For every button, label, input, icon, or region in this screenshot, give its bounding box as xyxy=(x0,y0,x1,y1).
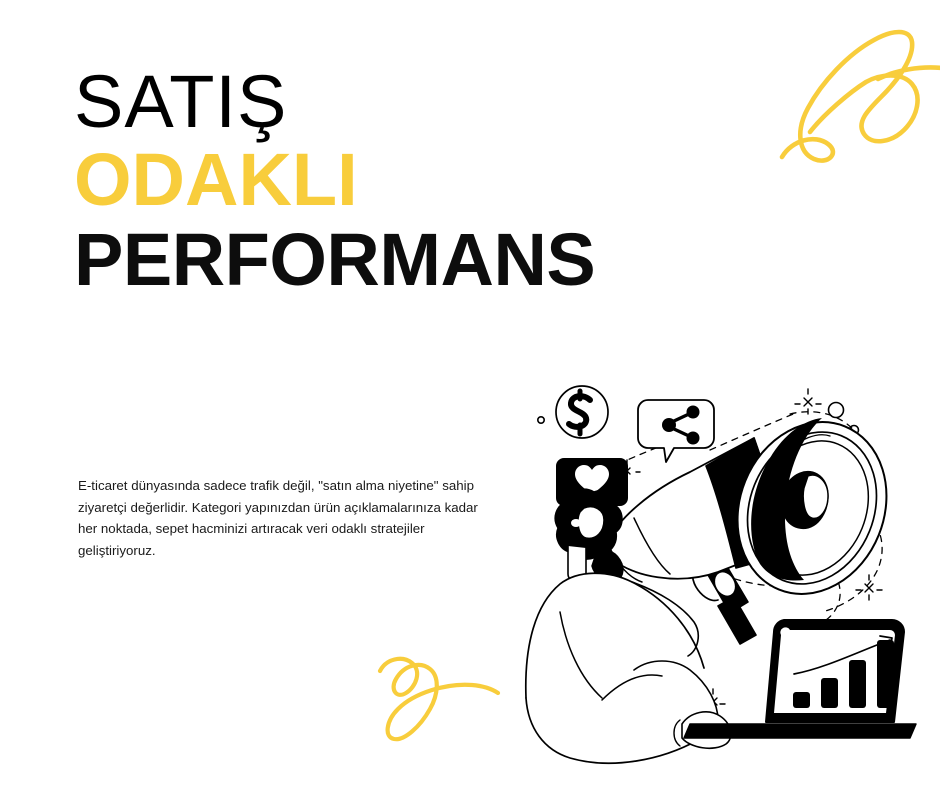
yellow-squiggle-top-right-icon xyxy=(770,22,940,187)
hero-illustration xyxy=(522,368,940,768)
yellow-squiggle-bottom-left-icon xyxy=(372,643,502,763)
circle-decor-tiny xyxy=(538,417,544,423)
heading-line-3: PERFORMANS xyxy=(74,224,774,296)
dashed-motion-arcs xyxy=(618,412,882,630)
slide-canvas: SATIŞ ODAKLI PERFORMANS E-ticaret dünyas… xyxy=(0,0,940,788)
circle-decor-small xyxy=(850,426,859,435)
dollar-coin-icon xyxy=(556,386,608,438)
body-paragraph: E-ticaret dünyasında sadece trafik değil… xyxy=(78,475,493,561)
heart-bubble-icon xyxy=(556,458,628,520)
sparkle-marks xyxy=(614,389,882,713)
heading-line-2-accent: ODAKLI xyxy=(74,144,774,216)
megaphone xyxy=(592,399,912,644)
heading-line-1: SATIŞ xyxy=(74,66,774,138)
person-figure xyxy=(526,489,731,763)
share-bubble-icon xyxy=(638,400,714,462)
circle-decor-large xyxy=(829,403,844,418)
laptop xyxy=(684,620,916,738)
bar-chart xyxy=(793,640,894,708)
page-title: SATIŞ ODAKLI PERFORMANS xyxy=(74,66,774,295)
